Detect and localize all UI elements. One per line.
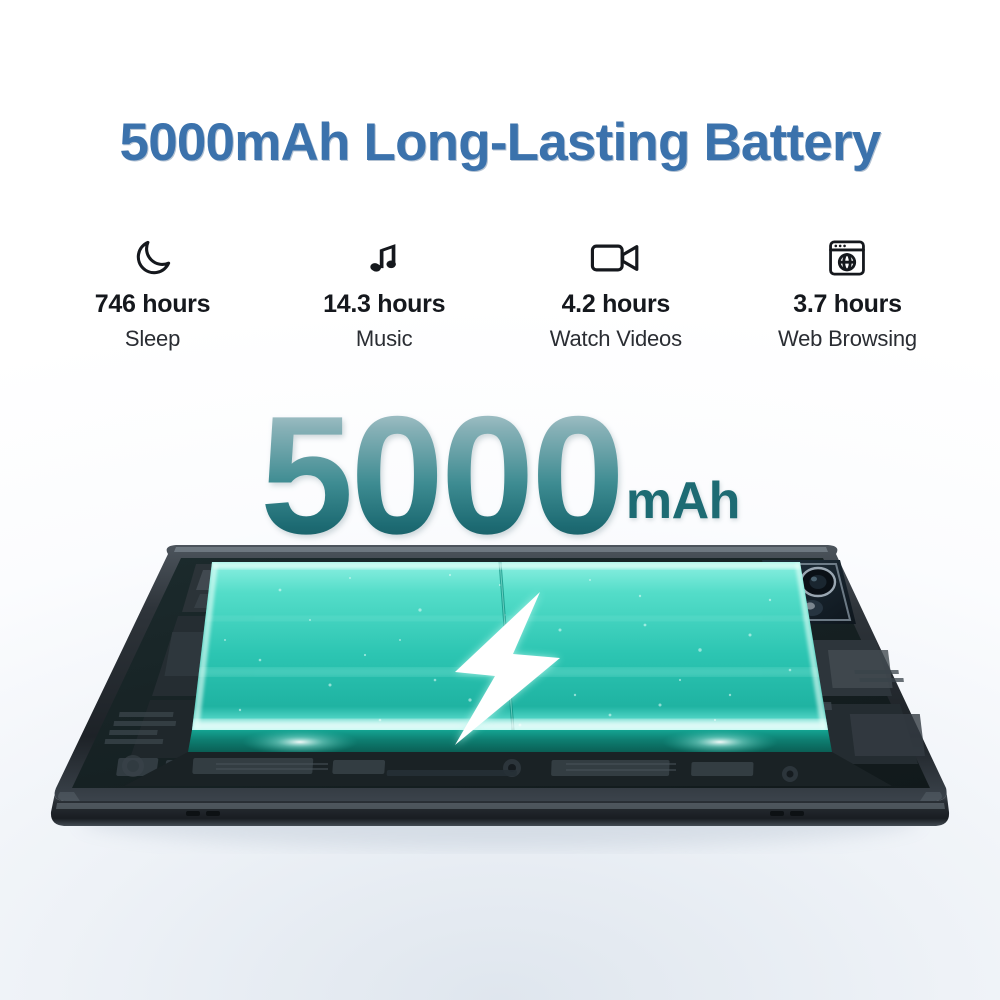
feature-sleep: 746 hours Sleep	[40, 232, 265, 352]
video-camera-icon	[503, 232, 728, 284]
feature-value: 746 hours	[40, 290, 265, 319]
product-feature-banner: 5000mAh Long-Lasting Battery 746 hours S…	[0, 0, 1000, 1000]
feature-stats-row: 746 hours Sleep 14.3 hours Music	[40, 232, 960, 352]
moon-icon	[40, 232, 265, 284]
feature-value: 14.3 hours	[272, 290, 497, 319]
tablet-cutaway-illustration	[0, 520, 1000, 940]
connector-block	[192, 758, 313, 774]
feature-label: Music	[272, 326, 497, 352]
feature-music: 14.3 hours Music	[272, 232, 497, 352]
feature-web-browsing: 3.7 hours Web Browsing	[735, 232, 960, 352]
battery-pack	[188, 562, 832, 755]
feature-value: 3.7 hours	[735, 290, 960, 319]
battery-glow-right	[662, 729, 778, 755]
music-note-icon	[272, 232, 497, 284]
battery-glow-left	[242, 729, 358, 755]
feature-label: Web Browsing	[735, 326, 960, 352]
rail-highlight	[56, 803, 945, 809]
frame-top-highlight	[174, 547, 828, 552]
feature-value: 4.2 hours	[503, 290, 728, 319]
browser-globe-icon	[735, 232, 960, 284]
feature-label: Sleep	[40, 326, 265, 352]
feature-label: Watch Videos	[503, 326, 728, 352]
feature-watch-videos: 4.2 hours Watch Videos	[503, 232, 728, 352]
bottom-board-strip	[124, 752, 892, 786]
ribbon-connector	[551, 760, 670, 776]
page-title: 5000mAh Long-Lasting Battery	[0, 112, 1000, 173]
